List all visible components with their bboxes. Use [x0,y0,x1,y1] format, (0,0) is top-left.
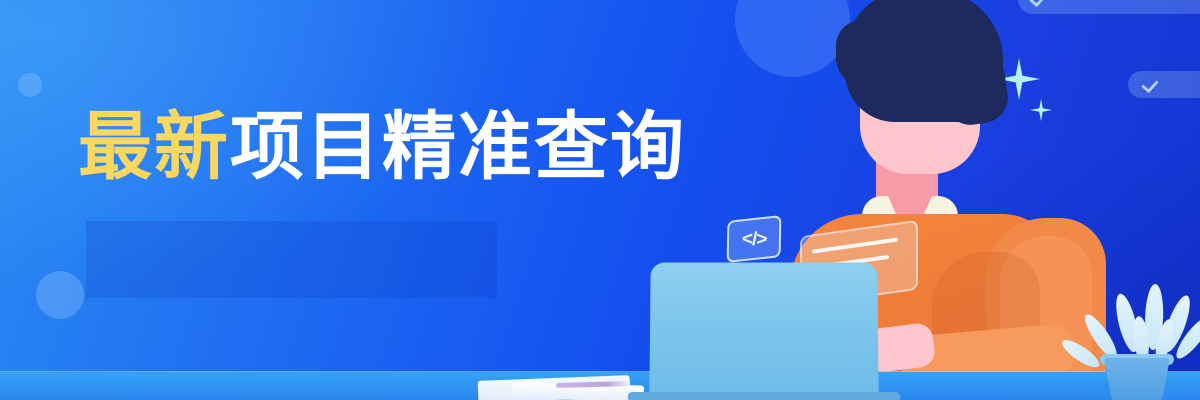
floating-code-card: </> [727,215,782,263]
page-title: 最新项目精准查询 [78,110,686,184]
laptop-base [628,392,900,400]
person-ear [962,86,988,120]
laptop-lid [649,262,878,400]
check-icon [1030,0,1046,7]
person-hair-side [939,42,1011,128]
check-icon [1142,77,1158,93]
person-upper-arm [1000,236,1092,386]
illustration-person [0,0,1200,400]
person-neck [876,120,938,230]
document-line [812,237,898,253]
person-head [860,24,980,174]
sparkle-icon-small [1030,99,1052,121]
page-title-accent: 最新 [78,105,230,188]
code-brackets-icon: </> [742,229,767,248]
background-dot-large [36,271,84,319]
background-gradient-sheen [0,0,1200,400]
page-title-main: 项目精准查询 [230,105,686,188]
verified-badge-top [1018,0,1200,14]
verified-badge-side [1128,71,1200,98]
hero-banner: </> 最新项目精准查询 [0,0,1200,400]
person-hair [845,0,1003,122]
background-halo-circle [735,0,850,77]
background-dot-small [18,73,42,97]
person-hair-top [875,0,952,38]
sparkle-icon-large [998,58,1040,100]
background-soft-rectangle [86,221,497,298]
plant-pot [1104,358,1170,400]
